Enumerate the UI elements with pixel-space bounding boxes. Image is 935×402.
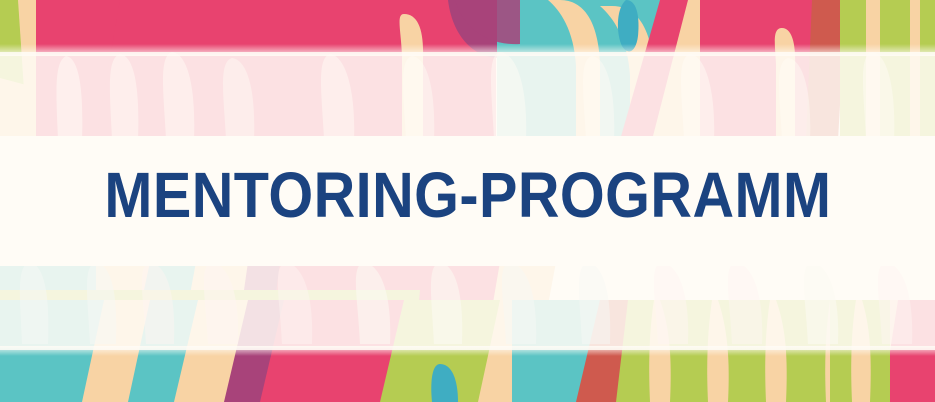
pattern-group-top	[0, 0, 935, 140]
mentoring-programm-banner: MENTORING-PROGRAMM	[0, 0, 935, 402]
title-container: MENTORING-PROGRAMM	[0, 150, 935, 240]
page-title: MENTORING-PROGRAMM	[104, 163, 831, 227]
